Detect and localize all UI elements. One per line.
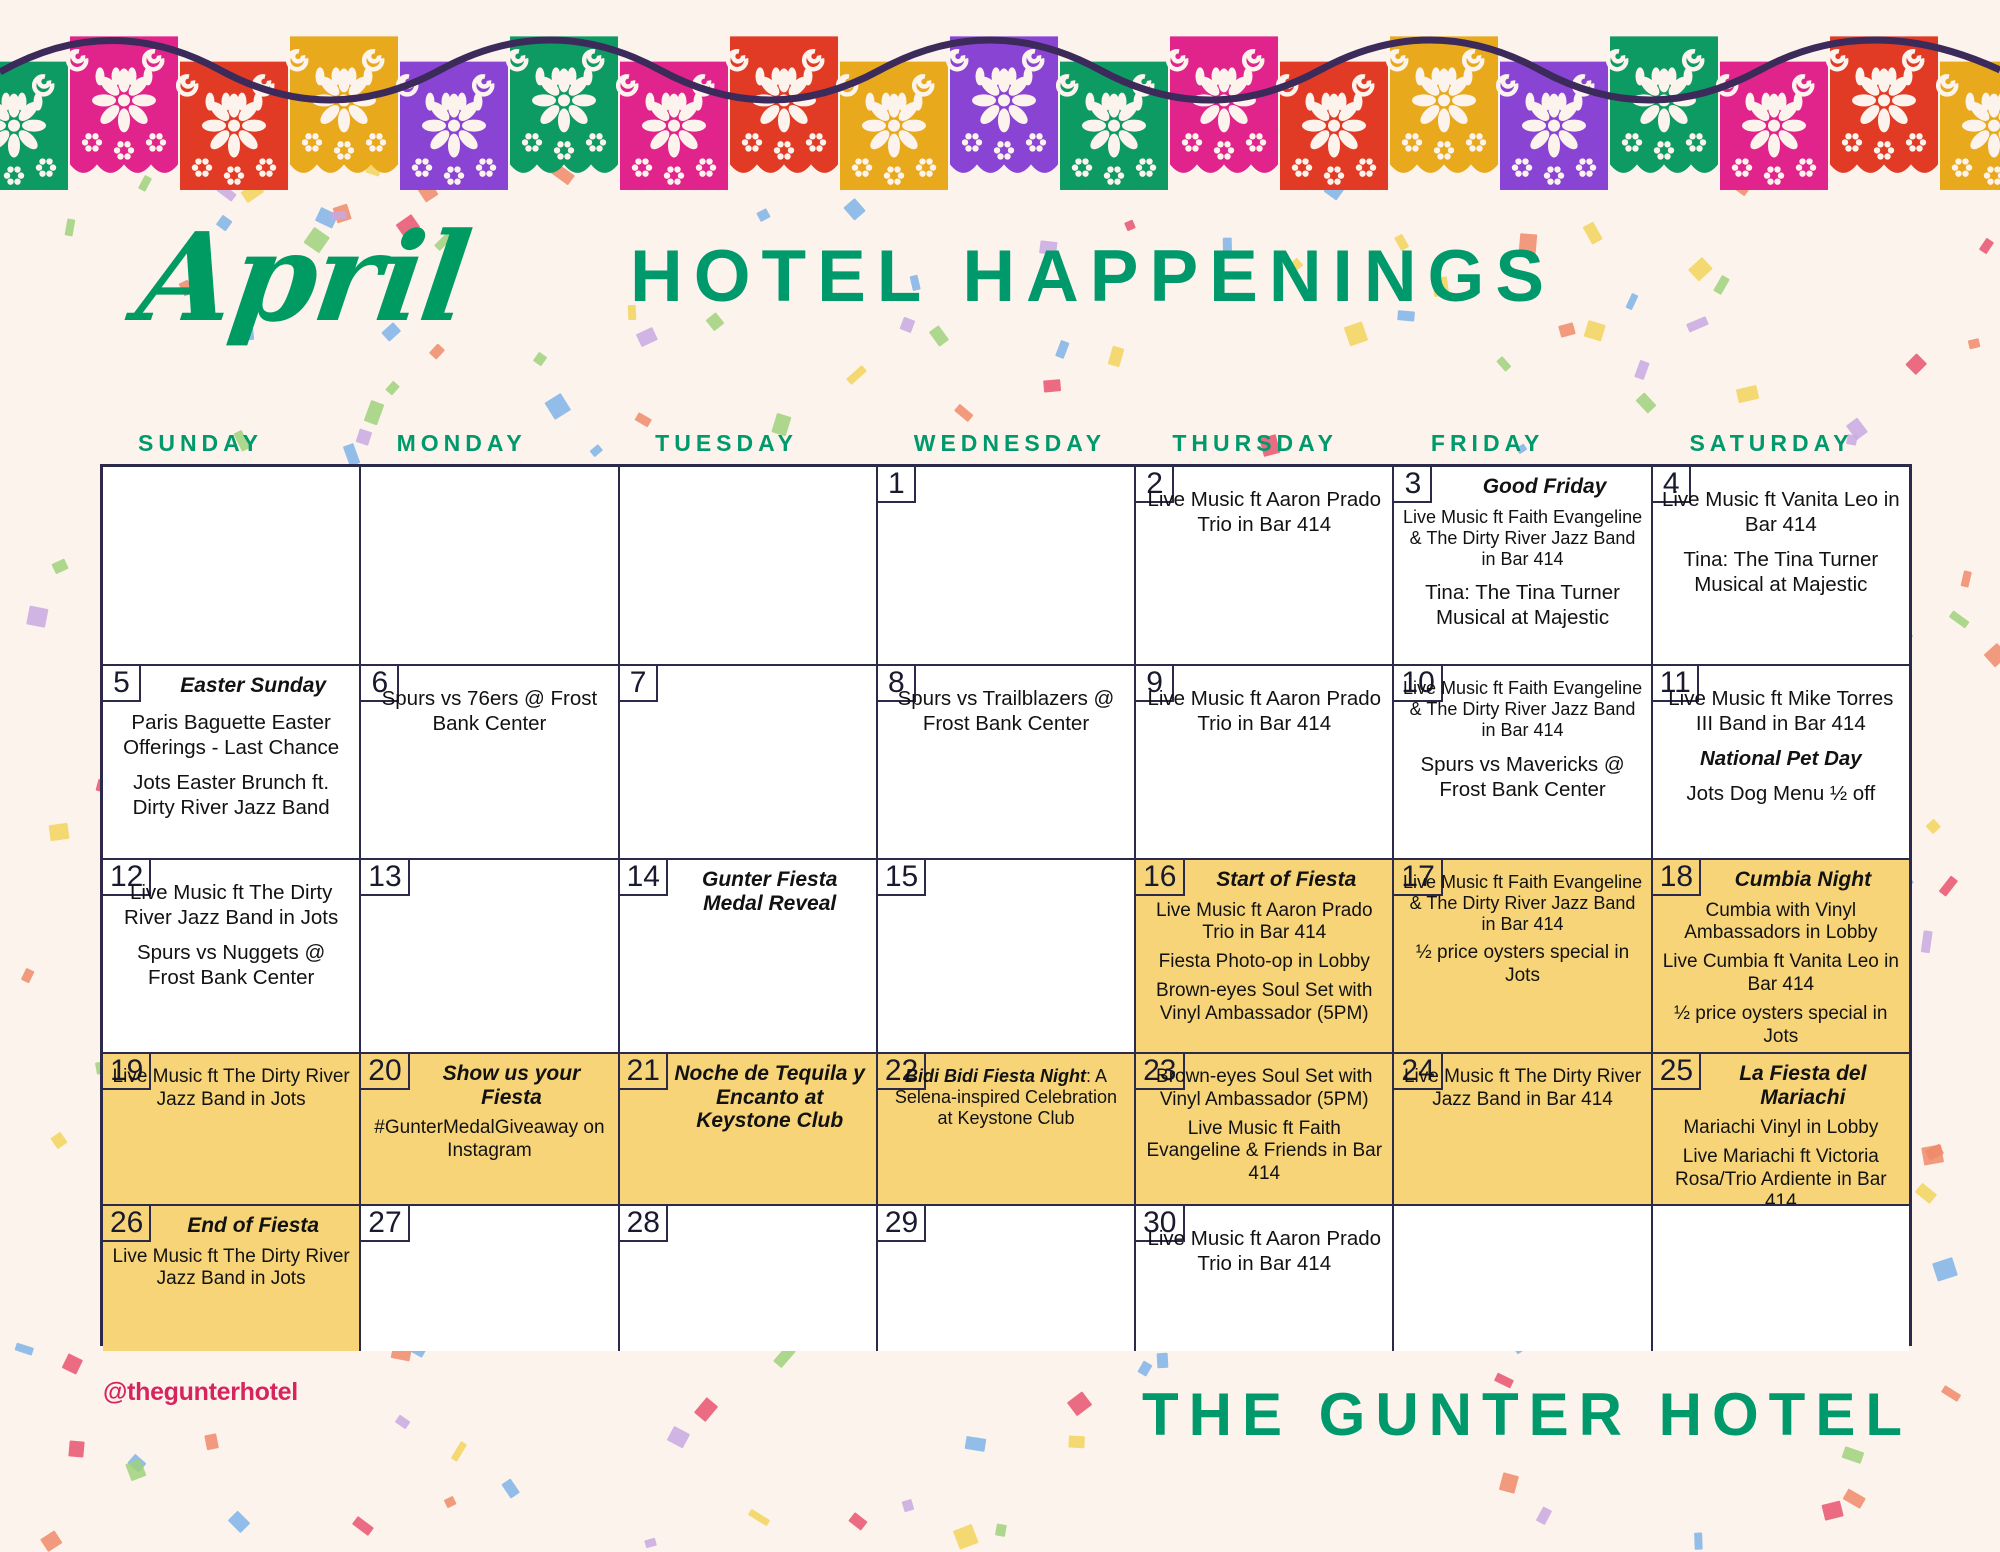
weekday-label-tuesday: TUESDAY: [617, 430, 876, 457]
day-event-title: Good Friday: [1402, 475, 1642, 499]
papel-picado-flag: [1828, 36, 1938, 173]
papel-picado-flag: [68, 36, 178, 173]
day-cell-body: [878, 467, 1134, 664]
day-cell-11: 11Live Music ft Mike Torres III Band in …: [1653, 666, 1909, 858]
weekday-label-sunday: SUNDAY: [100, 430, 359, 457]
day-cell-body: Noche de Tequila y Encanto at Keystone C…: [620, 1054, 876, 1204]
day-cell-body: Live Music ft Faith Evangeline & The Dir…: [1394, 860, 1650, 1052]
confetti-piece: [1694, 1532, 1703, 1549]
day-event-text: Brown-eyes Soul Set with Vinyl Ambassado…: [1144, 980, 1384, 1026]
weekday-label-monday: MONDAY: [359, 430, 618, 457]
day-event-text: Live Music ft The Dirty River Jazz Band …: [111, 1246, 351, 1292]
day-event-title: Easter Sunday: [111, 674, 351, 698]
day-event-text: National Pet Day: [1661, 746, 1901, 771]
day-cell-1: 1: [878, 467, 1136, 664]
day-cell-body: Easter SundayParis Baguette Easter Offer…: [103, 666, 359, 858]
papel-picado-flag: [1938, 62, 2000, 190]
confetti-piece: [228, 1511, 251, 1534]
confetti-piece: [1069, 1435, 1085, 1448]
day-cell-19: 19Live Music ft The Dirty River Jazz Ban…: [103, 1054, 361, 1204]
confetti-piece: [667, 1426, 691, 1449]
day-event-title: Cumbia Night: [1661, 868, 1901, 892]
confetti-piece: [1939, 875, 1958, 896]
day-cell-body: Cumbia NightCumbia with Vinyl Ambassador…: [1653, 860, 1909, 1052]
day-cell-14: 14Gunter Fiesta Medal Reveal: [620, 860, 878, 1052]
confetti-piece: [1961, 570, 1972, 587]
calendar-grid: 12Live Music ft Aaron Prado Trio in Bar …: [100, 464, 1912, 1346]
day-cell-body: Live Music ft Aaron Prado Trio in Bar 41…: [1136, 467, 1392, 664]
day-cell-body: Live Music ft Faith Evangeline & The Dir…: [1394, 666, 1650, 858]
day-cell-body: [620, 1206, 876, 1351]
day-cell-16: 16Start of FiestaLive Music ft Aaron Pra…: [1136, 860, 1394, 1052]
day-event-text: Spurs vs Mavericks @ Frost Bank Center: [1402, 752, 1642, 802]
day-cell-body: Brown-eyes Soul Set with Vinyl Ambassado…: [1136, 1054, 1392, 1204]
weekday-label-thursday: THURSDAY: [1134, 430, 1393, 457]
confetti-piece: [1926, 819, 1941, 834]
day-event-text: ½ price oysters special in Jots: [1661, 1003, 1901, 1049]
day-cell-body: Spurs vs 76ers @ Frost Bank Center: [361, 666, 617, 858]
day-cell-3: 3Good FridayLive Music ft Faith Evangeli…: [1394, 467, 1652, 664]
day-cell-body: End of FiestaLive Music ft The Dirty Riv…: [103, 1206, 359, 1351]
day-event-text: Fiesta Photo-op in Lobby: [1144, 951, 1384, 974]
weekday-label-friday: FRIDAY: [1393, 430, 1652, 457]
page-header: April HOTEL HAPPENINGS: [0, 225, 2000, 345]
day-cell-10: 10Live Music ft Faith Evangeline & The D…: [1394, 666, 1652, 858]
confetti-piece: [844, 198, 866, 220]
day-event-text: Brown-eyes Soul Set with Vinyl Ambassado…: [1144, 1066, 1384, 1112]
day-cell-24: 24Live Music ft The Dirty River Jazz Ban…: [1394, 1054, 1652, 1204]
confetti-piece: [1108, 346, 1125, 368]
day-event-text: Live Music ft The Dirty River Jazz Band …: [111, 1066, 351, 1112]
day-cell-body: Live Music ft The Dirty River Jazz Band …: [103, 1054, 359, 1204]
weekday-label-wednesday: WEDNESDAY: [876, 430, 1135, 457]
weekday-header-row: SUNDAYMONDAYTUESDAYWEDNESDAYTHURSDAYFRID…: [100, 430, 1910, 457]
confetti-piece: [14, 1342, 33, 1355]
papel-picado-flag: [618, 62, 728, 190]
day-event-text: Live Music ft Faith Evangeline & The Dir…: [1402, 678, 1642, 742]
day-cell-18: 18Cumbia NightCumbia with Vinyl Ambassad…: [1653, 860, 1909, 1052]
day-cell-26: 26End of FiestaLive Music ft The Dirty R…: [103, 1206, 361, 1351]
day-cell-body: Live Music ft Vanita Leo in Bar 414Tina:…: [1653, 467, 1909, 664]
confetti-piece: [21, 967, 35, 983]
day-event-title: Show us your Fiesta: [369, 1062, 609, 1109]
day-cell-body: La Fiesta del MariachiMariachi Vinyl in …: [1653, 1054, 1909, 1204]
day-cell-8: 8Spurs vs Trailblazers @ Frost Bank Cent…: [878, 666, 1136, 858]
calendar-week-row: 12Live Music ft The Dirty River Jazz Ban…: [103, 860, 1909, 1054]
confetti-piece: [644, 1538, 657, 1548]
papel-picado-flag: [948, 36, 1058, 173]
day-cell-23: 23Brown-eyes Soul Set with Vinyl Ambassa…: [1136, 1054, 1394, 1204]
confetti-piece: [41, 1530, 63, 1551]
day-cell-6: 6Spurs vs 76ers @ Frost Bank Center: [361, 666, 619, 858]
confetti-piece: [1157, 1353, 1169, 1369]
papel-picado-flag: [1168, 36, 1278, 173]
day-cell-9: 9Live Music ft Aaron Prado Trio in Bar 4…: [1136, 666, 1394, 858]
confetti-piece: [694, 1397, 718, 1422]
confetti-piece: [902, 1499, 915, 1512]
day-cell-empty: [103, 467, 361, 664]
confetti-piece: [1042, 379, 1060, 392]
confetti-piece: [444, 1495, 456, 1507]
day-cell-7: 7: [620, 666, 878, 858]
day-event-title: Noche de Tequila y Encanto at Keystone C…: [628, 1062, 868, 1133]
day-event-text: Live Music ft Vanita Leo in Bar 414: [1661, 487, 1901, 537]
papel-picado-flag: [0, 62, 68, 190]
day-event-text: Live Music ft Mike Torres III Band in Ba…: [1661, 686, 1901, 736]
confetti-piece: [965, 1436, 987, 1452]
confetti-piece: [846, 365, 867, 385]
day-cell-12: 12Live Music ft The Dirty River Jazz Ban…: [103, 860, 361, 1052]
day-event-title: Start of Fiesta: [1144, 868, 1384, 892]
day-cell-body: Spurs vs Trailblazers @ Frost Bank Cente…: [878, 666, 1134, 858]
calendar-week-row: 26End of FiestaLive Music ft The Dirty R…: [103, 1206, 1909, 1351]
confetti-piece: [1735, 385, 1759, 403]
day-cell-2: 2Live Music ft Aaron Prado Trio in Bar 4…: [1136, 467, 1394, 664]
papel-picado-flag: [508, 36, 618, 173]
instagram-handle[interactable]: @thegunterhotel: [103, 1378, 298, 1407]
confetti-piece: [364, 400, 384, 425]
papel-picado-flag: [178, 62, 288, 190]
day-cell-29: 29: [878, 1206, 1136, 1351]
confetti-piece: [1915, 1183, 1937, 1204]
day-event-text: Live Music ft Aaron Prado Trio in Bar 41…: [1144, 1226, 1384, 1276]
day-cell-5: 5Easter SundayParis Baguette Easter Offe…: [103, 666, 361, 858]
papel-picado-flag: [728, 36, 838, 173]
confetti-piece: [451, 1441, 467, 1462]
day-cell-25: 25La Fiesta del MariachiMariachi Vinyl i…: [1653, 1054, 1909, 1204]
confetti-piece: [1920, 930, 1932, 953]
day-event-text: Live Mariachi ft Victoria Rosa/Trio Ardi…: [1661, 1146, 1901, 1204]
day-event-text: Live Music ft Aaron Prado Trio in Bar 41…: [1144, 900, 1384, 946]
confetti-piece: [995, 1523, 1007, 1536]
day-cell-body: [1394, 1206, 1650, 1351]
day-cell-4: 4Live Music ft Vanita Leo in Bar 414Tina…: [1653, 467, 1909, 664]
day-cell-body: [361, 860, 617, 1052]
day-event-text: Bidi Bidi Fiesta Night: A Selena-inspire…: [886, 1066, 1126, 1130]
day-cell-empty: [1653, 1206, 1909, 1351]
confetti-piece: [545, 393, 571, 420]
confetti-piece: [49, 823, 70, 841]
day-cell-30: 30Live Music ft Aaron Prado Trio in Bar …: [1136, 1206, 1394, 1351]
day-cell-body: Bidi Bidi Fiesta Night: A Selena-inspire…: [878, 1054, 1134, 1204]
confetti-piece: [1536, 1506, 1552, 1525]
day-cell-body: Live Music ft Aaron Prado Trio in Bar 41…: [1136, 666, 1392, 858]
day-cell-empty: [620, 467, 878, 664]
calendar-week-row: 12Live Music ft Aaron Prado Trio in Bar …: [103, 467, 1909, 666]
confetti-piece: [756, 208, 771, 222]
day-cell-27: 27: [361, 1206, 619, 1351]
confetti-piece: [1821, 1501, 1844, 1521]
day-cell-body: [361, 1206, 617, 1351]
day-cell-17: 17Live Music ft Faith Evangeline & The D…: [1394, 860, 1652, 1052]
day-cell-empty: [361, 467, 619, 664]
day-cell-empty: [1394, 1206, 1652, 1351]
day-event-text: Live Music ft The Dirty River Jazz Band …: [1402, 1066, 1642, 1112]
day-cell-body: Show us your Fiesta#GunterMedalGiveaway …: [361, 1054, 617, 1204]
day-event-text: Live Cumbia ft Vanita Leo in Bar 414: [1661, 951, 1901, 997]
papel-picado-flag: [288, 36, 398, 173]
day-event-text: Cumbia with Vinyl Ambassadors in Lobby: [1661, 900, 1901, 946]
confetti-piece: [1635, 392, 1656, 413]
day-event-text: Live Music ft Faith Evangeline & The Dir…: [1402, 507, 1642, 571]
confetti-piece: [127, 1454, 146, 1473]
confetti-piece: [1925, 1143, 1944, 1160]
day-cell-body: [878, 1206, 1134, 1351]
day-event-text: Spurs vs Trailblazers @ Frost Bank Cente…: [886, 686, 1126, 736]
confetti-piece: [501, 1479, 520, 1499]
confetti-piece: [1634, 360, 1649, 380]
day-cell-body: Live Music ft The Dirty River Jazz Band …: [103, 860, 359, 1052]
day-event-text: Live Music ft Faith Evangeline & The Dir…: [1402, 872, 1642, 936]
day-cell-body: Live Music ft Aaron Prado Trio in Bar 41…: [1136, 1206, 1392, 1351]
day-cell-body: Good FridayLive Music ft Faith Evangelin…: [1394, 467, 1650, 664]
day-event-text: Jots Dog Menu ½ off: [1661, 781, 1901, 806]
confetti-piece: [68, 1440, 84, 1457]
day-cell-28: 28: [620, 1206, 878, 1351]
day-cell-body: [361, 467, 617, 664]
confetti-piece: [748, 1509, 770, 1527]
day-event-title: Gunter Fiesta Medal Reveal: [628, 868, 868, 915]
papel-picado-banner: [0, 0, 2000, 190]
confetti-piece: [1496, 356, 1511, 372]
confetti-piece: [125, 1458, 146, 1480]
confetti-piece: [1949, 610, 1970, 629]
day-cell-13: 13: [361, 860, 619, 1052]
papel-picado-flag: [1388, 36, 1498, 173]
confetti-piece: [1906, 353, 1928, 375]
day-cell-body: [103, 467, 359, 664]
confetti-piece: [205, 1433, 220, 1450]
day-event-text: Mariachi Vinyl in Lobby: [1661, 1117, 1901, 1140]
papel-picado-flag: [1608, 36, 1718, 173]
confetti-piece: [1067, 1392, 1092, 1417]
confetti-piece: [1984, 643, 2000, 668]
day-event-text: #GunterMedalGiveaway on Instagram: [369, 1117, 609, 1163]
day-event-text: Jots Easter Brunch ft. Dirty River Jazz …: [111, 770, 351, 820]
confetti-piece: [1499, 1472, 1519, 1493]
page-title: HOTEL HAPPENINGS: [630, 235, 1555, 318]
day-event-title: End of Fiesta: [111, 1214, 351, 1238]
day-event-title: La Fiesta del Mariachi: [1661, 1062, 1901, 1109]
day-event-text: Live Music ft The Dirty River Jazz Band …: [111, 880, 351, 930]
confetti-piece: [51, 1132, 68, 1150]
hotel-logo: THE GUNTER HOTEL: [1142, 1380, 1912, 1449]
day-cell-body: Gunter Fiesta Medal Reveal: [620, 860, 876, 1052]
confetti-piece: [848, 1512, 867, 1530]
confetti-piece: [954, 1524, 980, 1550]
confetti-piece: [51, 559, 68, 574]
day-cell-22: 22Bidi Bidi Fiesta Night: A Selena-inspi…: [878, 1054, 1136, 1204]
day-event-text: Paris Baguette Easter Offerings - Last C…: [111, 710, 351, 760]
day-cell-20: 20Show us your Fiesta#GunterMedalGiveawa…: [361, 1054, 619, 1204]
day-event-text: Live Music ft Aaron Prado Trio in Bar 41…: [1144, 487, 1384, 537]
confetti-piece: [1933, 1257, 1958, 1281]
day-event-text: Spurs vs Nuggets @ Frost Bank Center: [111, 940, 351, 990]
confetti-piece: [385, 380, 400, 395]
confetti-piece: [1941, 1385, 1961, 1402]
confetti-piece: [954, 404, 974, 423]
confetti-piece: [1137, 1360, 1152, 1376]
papel-picado-flag: [1058, 62, 1168, 190]
day-cell-15: 15: [878, 860, 1136, 1052]
day-cell-body: [620, 467, 876, 664]
day-event-text: Spurs vs 76ers @ Frost Bank Center: [369, 686, 609, 736]
calendar-week-row: 5Easter SundayParis Baguette Easter Offe…: [103, 666, 1909, 860]
confetti-piece: [61, 1353, 83, 1375]
month-title: April: [130, 205, 477, 349]
confetti-piece: [533, 352, 547, 366]
confetti-piece: [26, 605, 49, 627]
day-event-text: Tina: The Tina Turner Musical at Majesti…: [1661, 547, 1901, 597]
day-event-text: Live Music ft Aaron Prado Trio in Bar 41…: [1144, 686, 1384, 736]
day-cell-body: Start of FiestaLive Music ft Aaron Prado…: [1136, 860, 1392, 1052]
confetti-piece: [395, 1415, 411, 1430]
day-event-text: ½ price oysters special in Jots: [1402, 942, 1642, 988]
day-cell-body: Live Music ft Mike Torres III Band in Ba…: [1653, 666, 1909, 858]
confetti-piece: [635, 412, 652, 427]
weekday-label-saturday: SATURDAY: [1651, 430, 1910, 457]
day-event-text: Live Music ft Faith Evangeline & Friends…: [1144, 1118, 1384, 1186]
papel-picado-flag: [1498, 62, 1608, 190]
day-cell-body: [1653, 1206, 1909, 1351]
day-cell-body: [620, 666, 876, 858]
confetti-piece: [1922, 1144, 1944, 1165]
day-event-text: Tina: The Tina Turner Musical at Majesti…: [1402, 580, 1642, 630]
confetti-piece: [352, 1516, 374, 1536]
day-cell-body: [878, 860, 1134, 1052]
day-cell-21: 21Noche de Tequila y Encanto at Keystone…: [620, 1054, 878, 1204]
day-cell-body: Live Music ft The Dirty River Jazz Band …: [1394, 1054, 1650, 1204]
calendar-week-row: 19Live Music ft The Dirty River Jazz Ban…: [103, 1054, 1909, 1206]
confetti-piece: [1842, 1488, 1865, 1509]
